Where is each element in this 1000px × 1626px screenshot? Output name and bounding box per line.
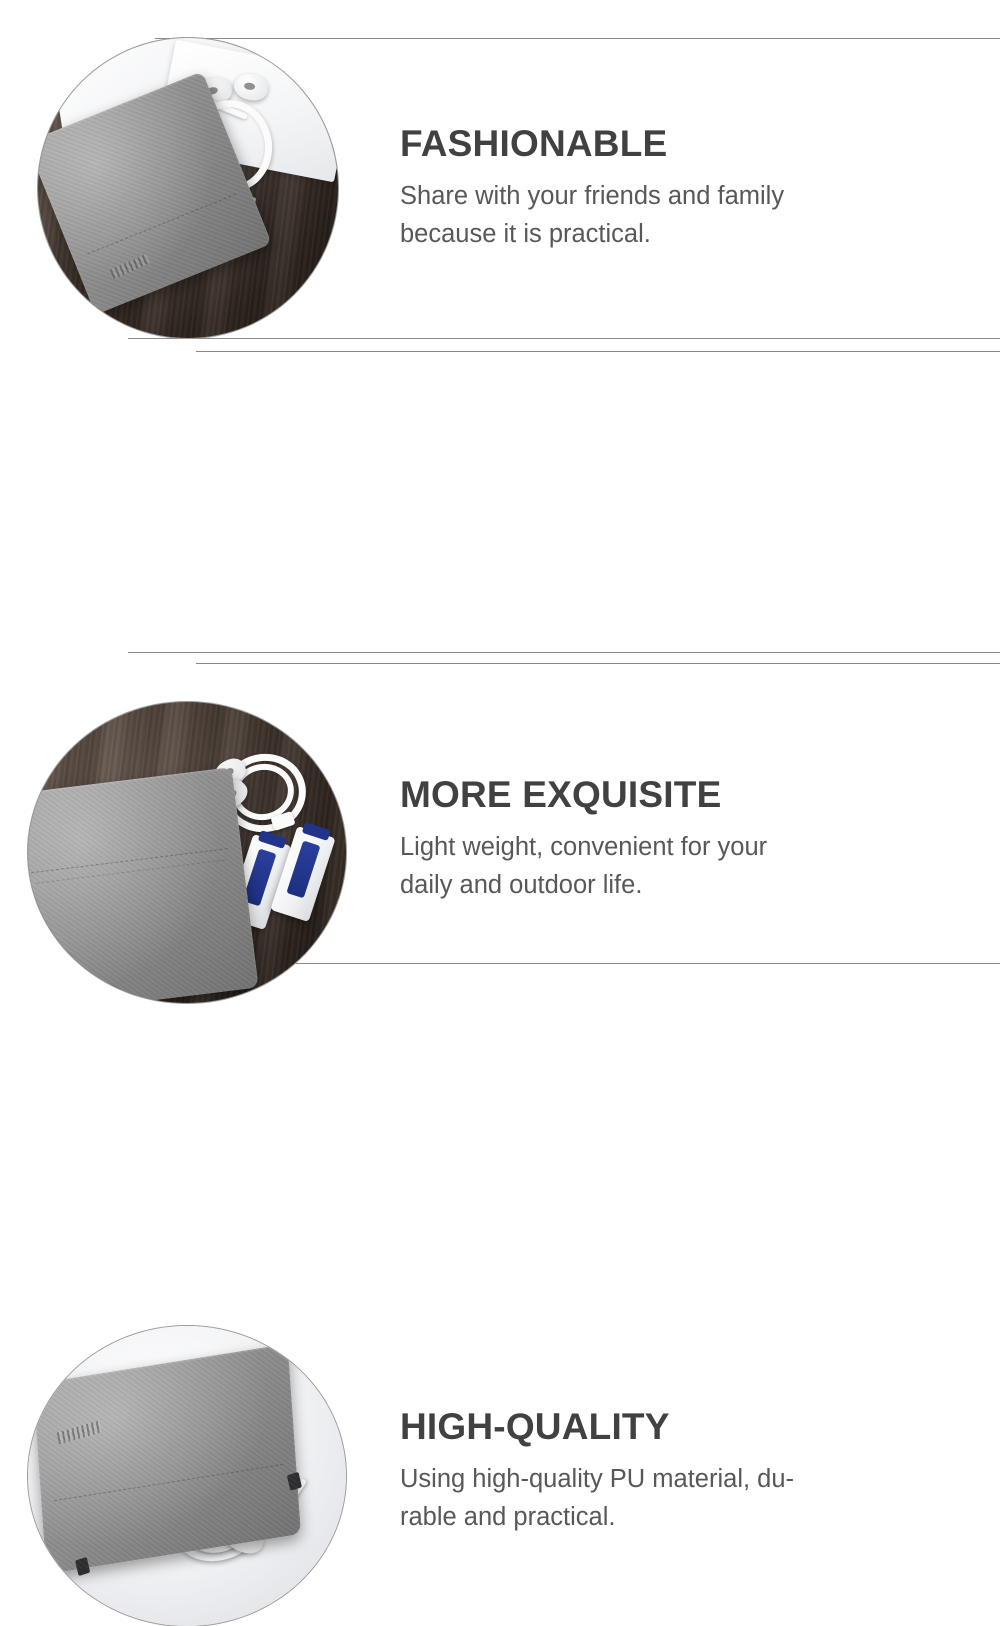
feature-body-line-1: Using high-quality PU material, du- bbox=[400, 1460, 794, 1498]
brand-emboss bbox=[110, 253, 151, 278]
feature-body-line-2: because it is practical. bbox=[400, 215, 784, 253]
feature-body: Using high-quality PU material, du- rabl… bbox=[400, 1460, 794, 1537]
feature-body: Share with your friends and family becau… bbox=[400, 177, 784, 254]
infographic-sheet: FASHIONABLE Share with your friends and … bbox=[0, 0, 1000, 1000]
divider-line-row2-bottom bbox=[128, 652, 1000, 653]
feature-body-line-1: Share with your friends and family bbox=[400, 177, 784, 215]
feature-copy-fashionable: FASHIONABLE Share with your friends and … bbox=[400, 124, 784, 253]
feature-row-fashionable: FASHIONABLE Share with your friends and … bbox=[0, 0, 1000, 340]
feature-headline: HIGH-QUALITY bbox=[400, 1407, 794, 1447]
feature-row-more-exquisite: MORE EXQUISITE Light weight, convenient … bbox=[0, 351, 1000, 652]
feature-copy-high-quality: HIGH-QUALITY Using high-quality PU mater… bbox=[400, 1407, 794, 1536]
feature-headline: FASHIONABLE bbox=[400, 124, 784, 164]
gray-pu-pouch bbox=[33, 1344, 301, 1575]
product-photo-high-quality bbox=[28, 1326, 346, 1626]
feature-row-high-quality: HIGH-QUALITY Using high-quality PU mater… bbox=[0, 663, 1000, 963]
pouch-seam bbox=[88, 194, 236, 255]
pouch-seam bbox=[54, 1464, 283, 1501]
feature-body-line-2: rable and practical. bbox=[400, 1498, 794, 1536]
brand-emboss bbox=[56, 1421, 101, 1445]
product-photo-fashionable bbox=[38, 38, 338, 338]
